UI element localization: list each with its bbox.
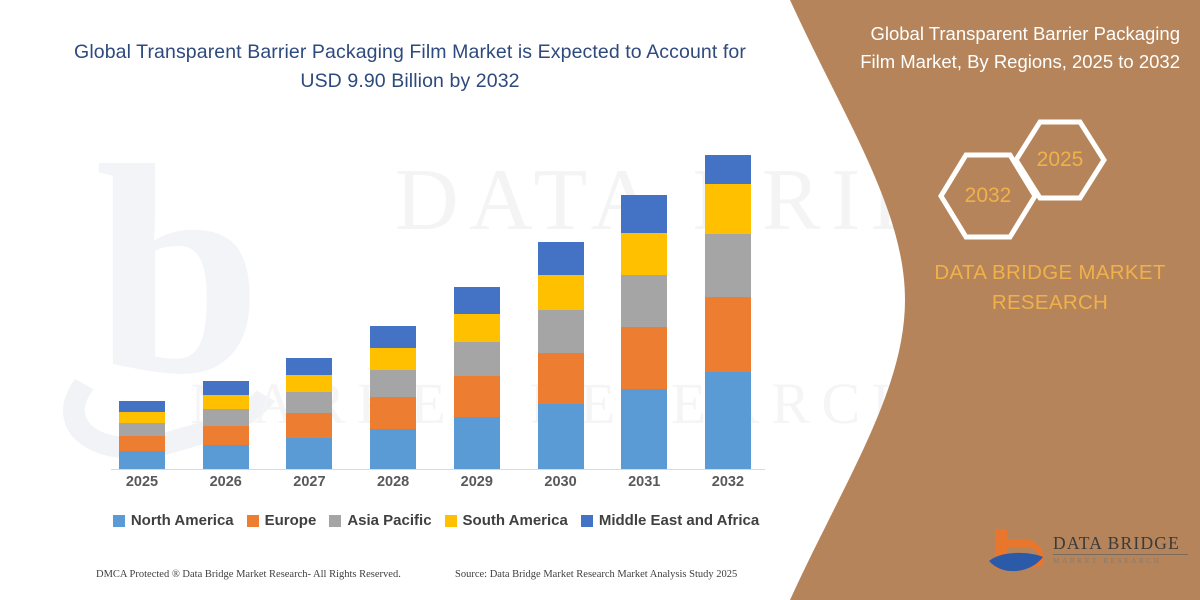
bar-segment — [538, 275, 584, 310]
bar-segment — [538, 404, 584, 469]
bar-segment — [454, 342, 500, 376]
bar-segment — [286, 375, 332, 392]
bar-segment — [203, 445, 249, 469]
bar-segment — [119, 436, 165, 451]
chart-plot-area — [105, 140, 765, 470]
bar-segment — [454, 314, 500, 342]
chart-x-axis-line — [111, 469, 765, 470]
bar-segment — [286, 438, 332, 469]
bar-segment — [538, 353, 584, 404]
logo-subtitle: MARKET RESEARCH — [1053, 557, 1188, 565]
bar-segment — [621, 233, 667, 275]
x-axis-tick-2026: 2026 — [203, 474, 249, 490]
chart-x-axis-labels: 20252026202720282029203020312032 — [105, 474, 765, 490]
legend-label: North America — [131, 512, 234, 529]
legend-item[interactable]: Middle East and Africa — [581, 512, 759, 529]
data-bridge-logo-text: DATA BRIDGE MARKET RESEARCH — [1053, 533, 1188, 565]
page-title: Global Transparent Barrier Packaging Fil… — [60, 38, 760, 96]
bar-segment — [286, 413, 332, 438]
legend-item[interactable]: Europe — [247, 512, 317, 529]
legend-item[interactable]: Asia Pacific — [329, 512, 431, 529]
bar-segment — [370, 370, 416, 397]
bar-segment — [286, 392, 332, 413]
bar-segment — [286, 358, 332, 375]
bar-segment — [370, 326, 416, 348]
bar-segment — [119, 451, 165, 469]
right-panel-title: Global Transparent Barrier Packaging Fil… — [860, 20, 1180, 76]
legend-label: South America — [463, 512, 568, 529]
bar-segment — [538, 310, 584, 353]
legend-swatch-icon — [445, 515, 457, 527]
bar-segment — [621, 327, 667, 389]
bar-segment — [370, 397, 416, 429]
x-axis-tick-2029: 2029 — [454, 474, 500, 490]
hex-badge-2032-label: 2032 — [965, 184, 1012, 208]
bar-segment — [705, 184, 751, 234]
legend-label: Europe — [265, 512, 317, 529]
data-bridge-logo-icon — [985, 525, 1047, 581]
infographic-root: b DATA BRIDGE MARKET RESEARCH Global Tra… — [0, 0, 1200, 600]
x-axis-tick-2027: 2027 — [286, 474, 332, 490]
legend-swatch-icon — [113, 515, 125, 527]
bar-segment — [454, 287, 500, 314]
bar-segment — [538, 242, 584, 275]
bar-segment — [203, 409, 249, 426]
right-panel-brand: DATA BRIDGE MARKET RESEARCH — [900, 258, 1200, 318]
chart-legend: North AmericaEuropeAsia PacificSouth Ame… — [105, 512, 767, 529]
bar-column-2026 — [203, 381, 249, 469]
legend-item[interactable]: South America — [445, 512, 568, 529]
bar-column-2032 — [705, 155, 751, 469]
bar-column-2027 — [286, 358, 332, 469]
legend-item[interactable]: North America — [113, 512, 234, 529]
bar-segment — [621, 275, 667, 327]
legend-swatch-icon — [581, 515, 593, 527]
footer-copyright: DMCA Protected ® Data Bridge Market Rese… — [96, 569, 401, 580]
bar-segment — [621, 389, 667, 469]
x-axis-tick-2028: 2028 — [370, 474, 416, 490]
bar-segment — [705, 297, 751, 372]
bar-segment — [203, 381, 249, 395]
bar-segment — [203, 426, 249, 445]
bar-segment — [705, 234, 751, 297]
bar-segment — [119, 401, 165, 412]
bar-segment — [705, 155, 751, 184]
bar-column-2025 — [119, 401, 165, 469]
x-axis-tick-2025: 2025 — [119, 474, 165, 490]
logo-divider — [1053, 554, 1188, 555]
hex-badge-2025: 2025 — [1012, 118, 1108, 202]
bar-column-2030 — [538, 242, 584, 469]
bar-segment — [370, 348, 416, 370]
x-axis-tick-2032: 2032 — [705, 474, 751, 490]
logo-title: DATA BRIDGE — [1053, 533, 1188, 553]
bar-segment — [454, 376, 500, 417]
bar-segment — [203, 395, 249, 409]
bar-segment — [705, 372, 751, 469]
bar-column-2029 — [454, 287, 500, 469]
bar-column-2031 — [621, 195, 667, 469]
bar-segment — [621, 195, 667, 233]
bar-segment — [370, 429, 416, 469]
x-axis-tick-2031: 2031 — [621, 474, 667, 490]
stacked-bar-chart — [105, 140, 765, 470]
data-bridge-logo: DATA BRIDGE MARKET RESEARCH — [985, 525, 1185, 581]
hex-badge-2025-label: 2025 — [1037, 148, 1084, 172]
x-axis-tick-2030: 2030 — [538, 474, 584, 490]
legend-label: Middle East and Africa — [599, 512, 759, 529]
chart-bars — [105, 143, 765, 469]
legend-label: Asia Pacific — [347, 512, 431, 529]
bar-segment — [454, 417, 500, 469]
bar-segment — [119, 412, 165, 423]
legend-swatch-icon — [247, 515, 259, 527]
bar-segment — [119, 423, 165, 436]
footer-source: Source: Data Bridge Market Research Mark… — [455, 569, 737, 580]
legend-swatch-icon — [329, 515, 341, 527]
bar-column-2028 — [370, 326, 416, 469]
